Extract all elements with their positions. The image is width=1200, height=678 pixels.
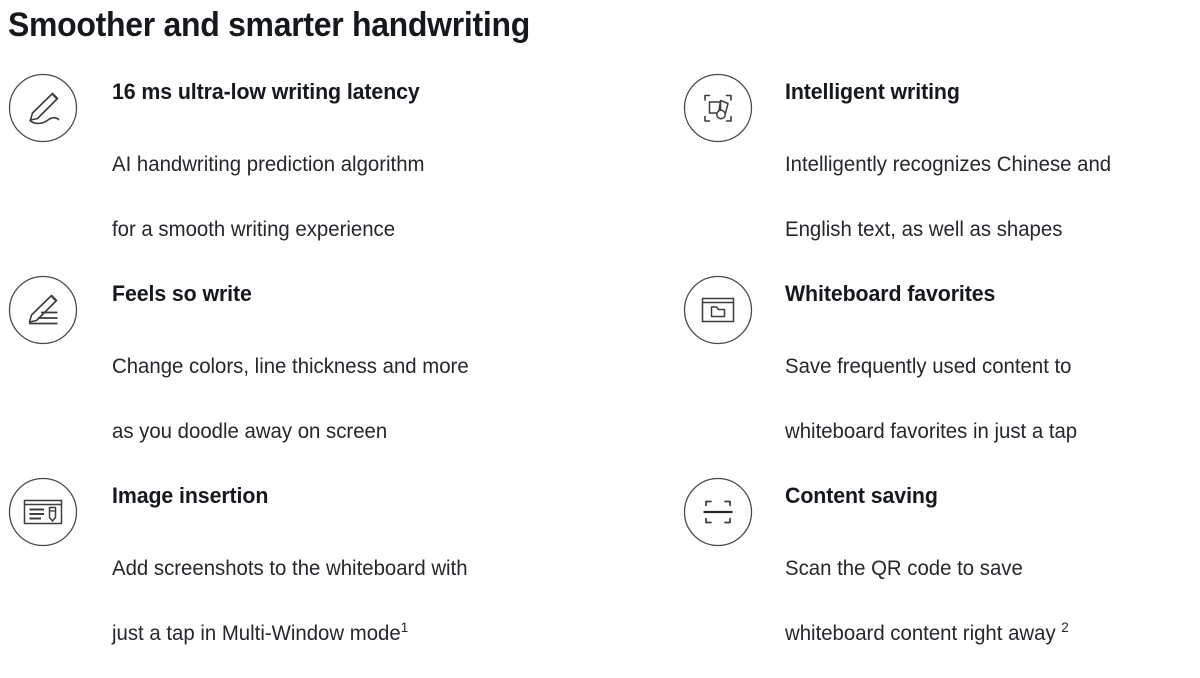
feature-text-block: Content saving Scan the QR code to save … — [753, 476, 1078, 650]
feature-card-5: Content saving Scan the QR code to save … — [680, 476, 1200, 678]
feature-title: 16 ms ultra-low writing latency — [112, 80, 425, 104]
feature-description: Add screenshots to the whiteboard with j… — [112, 520, 468, 650]
feature-title: Intelligent writing — [785, 80, 1111, 104]
feature-title: Image insertion — [112, 484, 468, 508]
desc-line-2: English text, as well as shapes — [785, 218, 1062, 241]
qr-scan-icon — [683, 477, 753, 547]
pen-stroke-icon — [8, 73, 78, 143]
feature-text-block: Intelligent writing Intelligently recogn… — [753, 72, 1121, 246]
desc-line-1: Change colors, line thickness and more — [112, 355, 469, 378]
pencil-lines-icon — [8, 275, 78, 345]
footnote-marker: 1 — [401, 619, 408, 635]
feature-title: Content saving — [785, 484, 1069, 508]
desc-line-2: for a smooth writing experience — [112, 218, 395, 241]
feature-text-block: Image insertion Add screenshots to the w… — [78, 476, 479, 650]
desc-line-2: just a tap in Multi-Window mode — [112, 622, 401, 645]
feature-description: Intelligently recognizes Chinese and Eng… — [785, 116, 1111, 246]
feature-description: Change colors, line thickness and more a… — [112, 318, 469, 448]
desc-line-1: Intelligently recognizes Chinese and — [785, 153, 1111, 176]
footnote-marker: 2 — [1061, 619, 1068, 635]
desc-line-1: Scan the QR code to save — [785, 557, 1023, 580]
smart-shape-recognition-icon — [683, 73, 753, 143]
desc-line-2: whiteboard favorites in just a tap — [785, 420, 1077, 443]
desc-line-2: as you doodle away on screen — [112, 420, 387, 443]
feature-text-block: Whiteboard favorites Save frequently use… — [753, 274, 1086, 448]
whiteboard-folder-icon — [683, 275, 753, 345]
feature-text-block: Feels so write Change colors, line thick… — [78, 274, 480, 448]
page-title: Smoother and smarter handwriting — [8, 6, 530, 45]
feature-grid: 16 ms ultra-low writing latency AI handw… — [0, 72, 1200, 678]
feature-highlights-page: Smoother and smarter handwriting 16 ms u… — [0, 0, 1200, 622]
desc-line-1: Save frequently used content to — [785, 355, 1072, 378]
feature-card-0: 16 ms ultra-low writing latency AI handw… — [0, 72, 680, 274]
feature-title: Whiteboard favorites — [785, 282, 1077, 306]
desc-line-1: AI handwriting prediction algorithm — [112, 153, 425, 176]
feature-row: Feels so write Change colors, line thick… — [0, 274, 1200, 476]
feature-description: AI handwriting prediction algorithm for … — [112, 116, 425, 246]
feature-row: 16 ms ultra-low writing latency AI handw… — [0, 72, 1200, 274]
feature-description: Scan the QR code to save whiteboard cont… — [785, 520, 1069, 650]
feature-text-block: 16 ms ultra-low writing latency AI handw… — [78, 72, 434, 246]
feature-description: Save frequently used content to whiteboa… — [785, 318, 1077, 448]
feature-card-1: Intelligent writing Intelligently recogn… — [680, 72, 1200, 274]
feature-card-4: Image insertion Add screenshots to the w… — [0, 476, 680, 678]
feature-card-3: Whiteboard favorites Save frequently use… — [680, 274, 1200, 476]
desc-line-1: Add screenshots to the whiteboard with — [112, 557, 468, 580]
feature-row: Image insertion Add screenshots to the w… — [0, 476, 1200, 678]
feature-card-2: Feels so write Change colors, line thick… — [0, 274, 680, 476]
desc-line-2: whiteboard content right away — [785, 622, 1061, 645]
image-with-pen-icon — [8, 477, 78, 547]
feature-title: Feels so write — [112, 282, 469, 306]
